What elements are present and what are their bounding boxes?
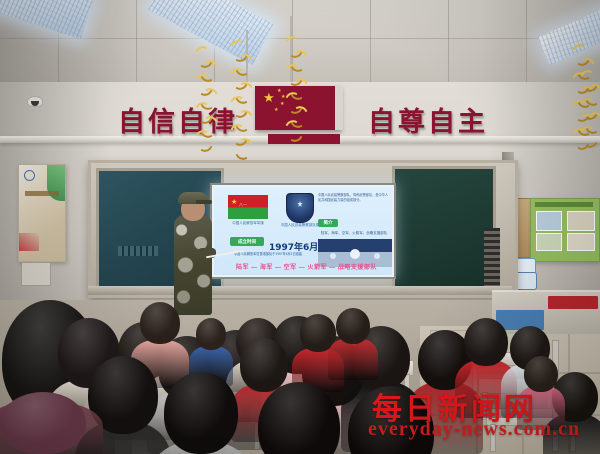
poster-title-bar bbox=[25, 191, 59, 196]
bulletin-header-bar bbox=[535, 202, 593, 207]
student-head bbox=[464, 318, 508, 366]
student-head bbox=[336, 308, 370, 344]
classroom-photo: 自信自律 自尊自主 ★ ★ ★ ★ ★ ★ 八 bbox=[0, 0, 600, 454]
student-torso bbox=[328, 338, 378, 380]
pla-flag-caption: 中国人民解放军军旗 bbox=[222, 221, 274, 226]
bulletin-photo-4 bbox=[567, 233, 595, 251]
presenter-cap bbox=[178, 192, 208, 204]
student-head bbox=[164, 372, 238, 454]
student-head bbox=[140, 302, 180, 344]
wall-bulletin-board bbox=[530, 198, 600, 262]
pla-flag-text: 八一 bbox=[239, 202, 247, 208]
wall-slogan-right: 自尊自主 bbox=[368, 100, 488, 139]
presenter-body bbox=[174, 215, 212, 315]
flag-star-4: ★ bbox=[274, 108, 278, 113]
student-head bbox=[240, 338, 288, 392]
wall-poster-left bbox=[18, 164, 66, 262]
projection-screen: ★ 八一 中国人民解放军军旗 中国人民武装警察部队徽 成立时间 1997年6月1… bbox=[210, 183, 396, 279]
ceiling-tile bbox=[370, 0, 449, 39]
flag-star-big: ★ bbox=[263, 91, 275, 104]
blackboard-side-strip bbox=[484, 228, 500, 290]
slide-tag-establish: 成立时间 bbox=[230, 237, 264, 246]
slide-bottom-line: 陆军 — 海军 — 空军 — 火箭军 — 战略支援部队 bbox=[236, 262, 377, 271]
pla-army-flag-graphic: ★ 八一 bbox=[228, 195, 268, 219]
cabinet-red-sign bbox=[548, 296, 598, 309]
wall-electrical-panel bbox=[21, 262, 51, 286]
armed-police-badge-graphic bbox=[286, 193, 314, 223]
blackboard-panel-right bbox=[392, 166, 496, 292]
poster-red-swoosh bbox=[19, 233, 39, 251]
watermark-latin: everyday-news.com.cn bbox=[368, 418, 580, 441]
dome-camera-icon bbox=[27, 96, 43, 107]
poster-logo-icon bbox=[24, 170, 35, 181]
student-head bbox=[196, 318, 226, 350]
bulletin-photo-3 bbox=[536, 233, 562, 251]
bulletin-photo-1 bbox=[536, 211, 562, 231]
presentation-slide: ★ 八一 中国人民解放军军旗 中国人民武装警察部队徽 成立时间 1997年6月1… bbox=[214, 187, 392, 275]
floor-tile bbox=[568, 330, 600, 374]
slide-right-caption: 陆军、海军、空军、火箭军、战略支援部队 bbox=[318, 231, 390, 236]
ceiling-tile bbox=[292, 0, 371, 39]
student-head bbox=[0, 392, 86, 454]
blackboard-vent bbox=[118, 246, 158, 256]
slide-subtext: 中国人民解放军驻香港部队于1997年6月1日组建 bbox=[234, 251, 302, 256]
slide-tag-intro: 简介 bbox=[318, 219, 338, 227]
armed-police-caption: 中国人民武装警察部队徽 bbox=[276, 223, 324, 228]
wall-slogan-left: 自信自律 bbox=[118, 100, 238, 139]
bulletin-photo-2 bbox=[567, 211, 595, 231]
flag-lower-bar bbox=[268, 134, 340, 144]
chalk-rail bbox=[88, 286, 512, 295]
pla-flag-star: ★ bbox=[231, 198, 237, 206]
ceiling-tile bbox=[370, 38, 449, 83]
slide-right-paragraph: 中国人民武装警察部队，简称武警部队，是中华人民共和国武装力量的组成部分。 bbox=[318, 193, 390, 202]
